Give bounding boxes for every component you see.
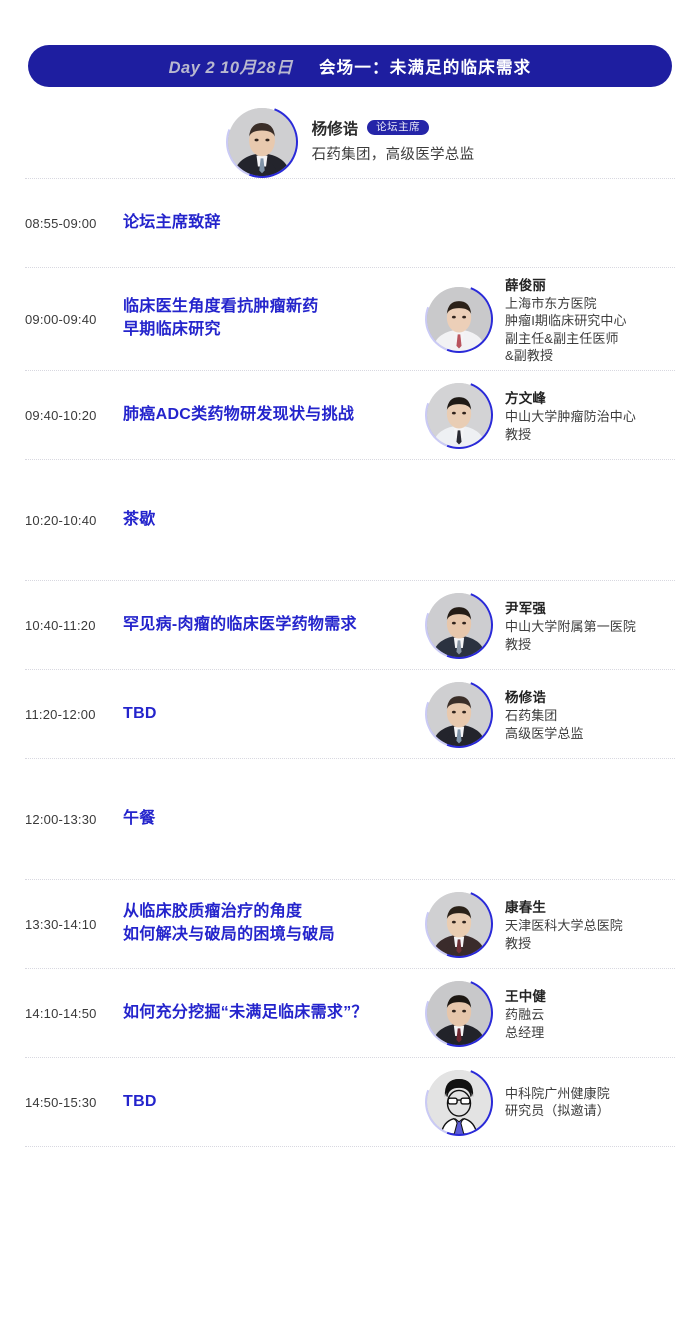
- avatar-ring-icon: [414, 669, 504, 759]
- avatar: [226, 106, 298, 178]
- forum-chairman: 杨修诰 论坛主席 石药集团，高级医学总监: [0, 87, 700, 178]
- session-title: 从临床胶质瘤治疗的角度 如何解决与破局的困境与破局: [123, 901, 425, 946]
- speaker-block: 康春生 天津医科大学总医院教授: [425, 890, 675, 958]
- session-title-line1: TBD: [123, 705, 157, 722]
- session-time: 12:00-13:30: [25, 812, 123, 827]
- speaker-org-line: 中山大学附属第一医院: [505, 618, 636, 635]
- chairman-name-row: 杨修诰 论坛主席: [312, 117, 475, 139]
- session-time: 11:20-12:00: [25, 707, 123, 722]
- chairman-name: 杨修诰: [312, 117, 359, 139]
- speaker-block: 杨修诰 石药集团高级医学总监: [425, 680, 675, 748]
- session-title-line1: 临床医生角度看抗肿瘤新药: [123, 298, 319, 315]
- session-title: 午餐: [123, 808, 425, 831]
- speaker-org-line: 总经理: [505, 1024, 546, 1041]
- chairman-text: 杨修诰 论坛主席 石药集团，高级医学总监: [312, 117, 475, 168]
- speaker-text: 方文峰 中山大学肿瘤防治中心教授: [505, 387, 636, 443]
- speaker-name: 薛俊丽: [505, 274, 627, 294]
- agenda-row[interactable]: 13:30-14:10 从临床胶质瘤治疗的角度 如何解决与破局的困境与破局 康春…: [25, 880, 675, 968]
- avatar: [425, 381, 493, 449]
- session-title: TBD: [123, 1091, 425, 1114]
- speaker-name: 王中健: [505, 985, 546, 1005]
- avatar-ring-icon: [414, 879, 504, 969]
- speaker-text: 中科院广州健康院研究员（拟邀请）: [505, 1085, 610, 1120]
- speaker-org-line: 药融云: [505, 1006, 546, 1023]
- session-title-line1: 罕见病-肉瘤的临床医学药物需求: [123, 616, 357, 633]
- agenda-row[interactable]: 14:50-15:30 TBD 中科院广州健康院研究员（拟邀请）: [25, 1058, 675, 1146]
- speaker-text: 杨修诰 石药集团高级医学总监: [505, 686, 584, 742]
- session-title: 茶歇: [123, 509, 425, 532]
- speaker-org-line: 中科院广州健康院: [505, 1085, 610, 1102]
- session-time: 09:40-10:20: [25, 408, 123, 423]
- agenda-row[interactable]: 11:20-12:00 TBD 杨修诰 石药集团高级医学总监: [25, 670, 675, 758]
- speaker-org-line: 中山大学肿瘤防治中心: [505, 408, 636, 425]
- speaker-org-line: 教授: [505, 426, 636, 443]
- agenda-row[interactable]: 08:55-09:00 论坛主席致辞: [25, 179, 675, 267]
- speaker-block: 薛俊丽 上海市东方医院肿瘤I期临床研究中心副主任&副主任医师&副教授: [425, 274, 675, 364]
- session-title: 如何充分挖掘“未满足临床需求”？: [123, 1002, 425, 1025]
- avatar: [425, 890, 493, 958]
- session-time: 14:50-15:30: [25, 1095, 123, 1110]
- speaker-org-line: 上海市东方医院: [505, 295, 627, 312]
- session-title: 临床医生角度看抗肿瘤新药 早期临床研究: [123, 296, 425, 341]
- speaker-name: 杨修诰: [505, 686, 584, 706]
- session-time: 10:40-11:20: [25, 618, 123, 633]
- session-title-line2: 早期临床研究: [123, 319, 415, 342]
- avatar-ring-icon: [414, 370, 504, 460]
- speaker-name: 康春生: [505, 896, 623, 916]
- avatar: [425, 285, 493, 353]
- speaker-block: 王中健 药融云总经理: [425, 979, 675, 1047]
- avatar: [425, 591, 493, 659]
- agenda-row[interactable]: 09:40-10:20 肺癌ADC类药物研发现状与挑战 方文峰 中山大学肿瘤: [25, 371, 675, 459]
- speaker-block: 中科院广州健康院研究员（拟邀请）: [425, 1068, 675, 1136]
- session-title: 罕见病-肉瘤的临床医学药物需求: [123, 614, 425, 637]
- session-time: 10:20-10:40: [25, 513, 123, 528]
- session-title: 论坛主席致辞: [123, 212, 425, 235]
- avatar-ring-icon: [214, 94, 309, 189]
- speaker-text: 王中健 药融云总经理: [505, 985, 546, 1041]
- session-title-line1: 如何充分挖掘“未满足临床需求”？: [123, 1004, 368, 1021]
- session-title-line2: 如何解决与破局的困境与破局: [123, 924, 415, 947]
- speaker-org-line: &副教授: [505, 347, 627, 364]
- agenda-row[interactable]: 12:00-13:30 午餐: [25, 759, 675, 879]
- banner-day-label: Day 2 10月28日: [169, 54, 293, 78]
- avatar-ring-icon: [414, 274, 504, 364]
- speaker-name: 方文峰: [505, 387, 636, 407]
- session-title-line1: 从临床胶质瘤治疗的角度: [123, 903, 302, 920]
- speaker-block: 尹军强 中山大学附属第一医院教授: [425, 591, 675, 659]
- agenda-row[interactable]: 09:00-09:40 临床医生角度看抗肿瘤新药 早期临床研究 薛俊丽 上海市: [25, 268, 675, 370]
- speaker-block: 方文峰 中山大学肿瘤防治中心教授: [425, 381, 675, 449]
- session-title-line1: 午餐: [123, 810, 156, 827]
- banner-session-title: 会场一：未满足的临床需求: [319, 54, 531, 78]
- speaker-org-line: 高级医学总监: [505, 725, 584, 742]
- avatar-ring-icon: [414, 968, 504, 1058]
- avatar: [425, 1068, 493, 1136]
- speaker-org-line: 研究员（拟邀请）: [505, 1102, 610, 1119]
- speaker-org-line: 教授: [505, 935, 623, 952]
- avatar: [425, 680, 493, 748]
- session-time: 14:10-14:50: [25, 1006, 123, 1021]
- avatar-ring-icon: [414, 1057, 504, 1147]
- agenda-list: 08:55-09:00 论坛主席致辞 09:00-09:40 临床医生角度看抗肿…: [0, 178, 700, 1147]
- session-title-line1: 论坛主席致辞: [123, 214, 221, 231]
- speaker-org-line: 教授: [505, 636, 636, 653]
- avatar: [425, 979, 493, 1047]
- agenda-row[interactable]: 14:10-14:50 如何充分挖掘“未满足临床需求”？ 王中健 药融云总经: [25, 969, 675, 1057]
- chairman-organization: 石药集团，高级医学总监: [312, 143, 475, 164]
- session-time: 09:00-09:40: [25, 312, 123, 327]
- speaker-text: 尹军强 中山大学附属第一医院教授: [505, 597, 636, 653]
- row-separator: [25, 1146, 675, 1147]
- speaker-name: 尹军强: [505, 597, 636, 617]
- session-title-line1: 茶歇: [123, 511, 156, 528]
- session-banner: Day 2 10月28日 会场一：未满足的临床需求: [28, 45, 672, 87]
- session-title: 肺癌ADC类药物研发现状与挑战: [123, 404, 425, 427]
- session-title-line1: TBD: [123, 1093, 157, 1110]
- avatar-ring-icon: [414, 580, 504, 670]
- speaker-text: 薛俊丽 上海市东方医院肿瘤I期临床研究中心副主任&副主任医师&副教授: [505, 274, 627, 364]
- session-title-line1: 肺癌ADC类药物研发现状与挑战: [123, 406, 354, 423]
- session-time: 13:30-14:10: [25, 917, 123, 932]
- agenda-row[interactable]: 10:40-11:20 罕见病-肉瘤的临床医学药物需求 尹军强 中山大学附属: [25, 581, 675, 669]
- speaker-org-line: 天津医科大学总医院: [505, 917, 623, 934]
- speaker-org-line: 肿瘤I期临床研究中心: [505, 312, 627, 329]
- speaker-org-line: 石药集团: [505, 707, 584, 724]
- session-banner-wrapper: Day 2 10月28日 会场一：未满足的临床需求: [0, 0, 700, 87]
- agenda-row[interactable]: 10:20-10:40 茶歇: [25, 460, 675, 580]
- session-time: 08:55-09:00: [25, 216, 123, 231]
- session-title: TBD: [123, 703, 425, 726]
- speaker-text: 康春生 天津医科大学总医院教授: [505, 896, 623, 952]
- status-badge: 论坛主席: [367, 120, 429, 136]
- speaker-org-line: 副主任&副主任医师: [505, 330, 627, 347]
